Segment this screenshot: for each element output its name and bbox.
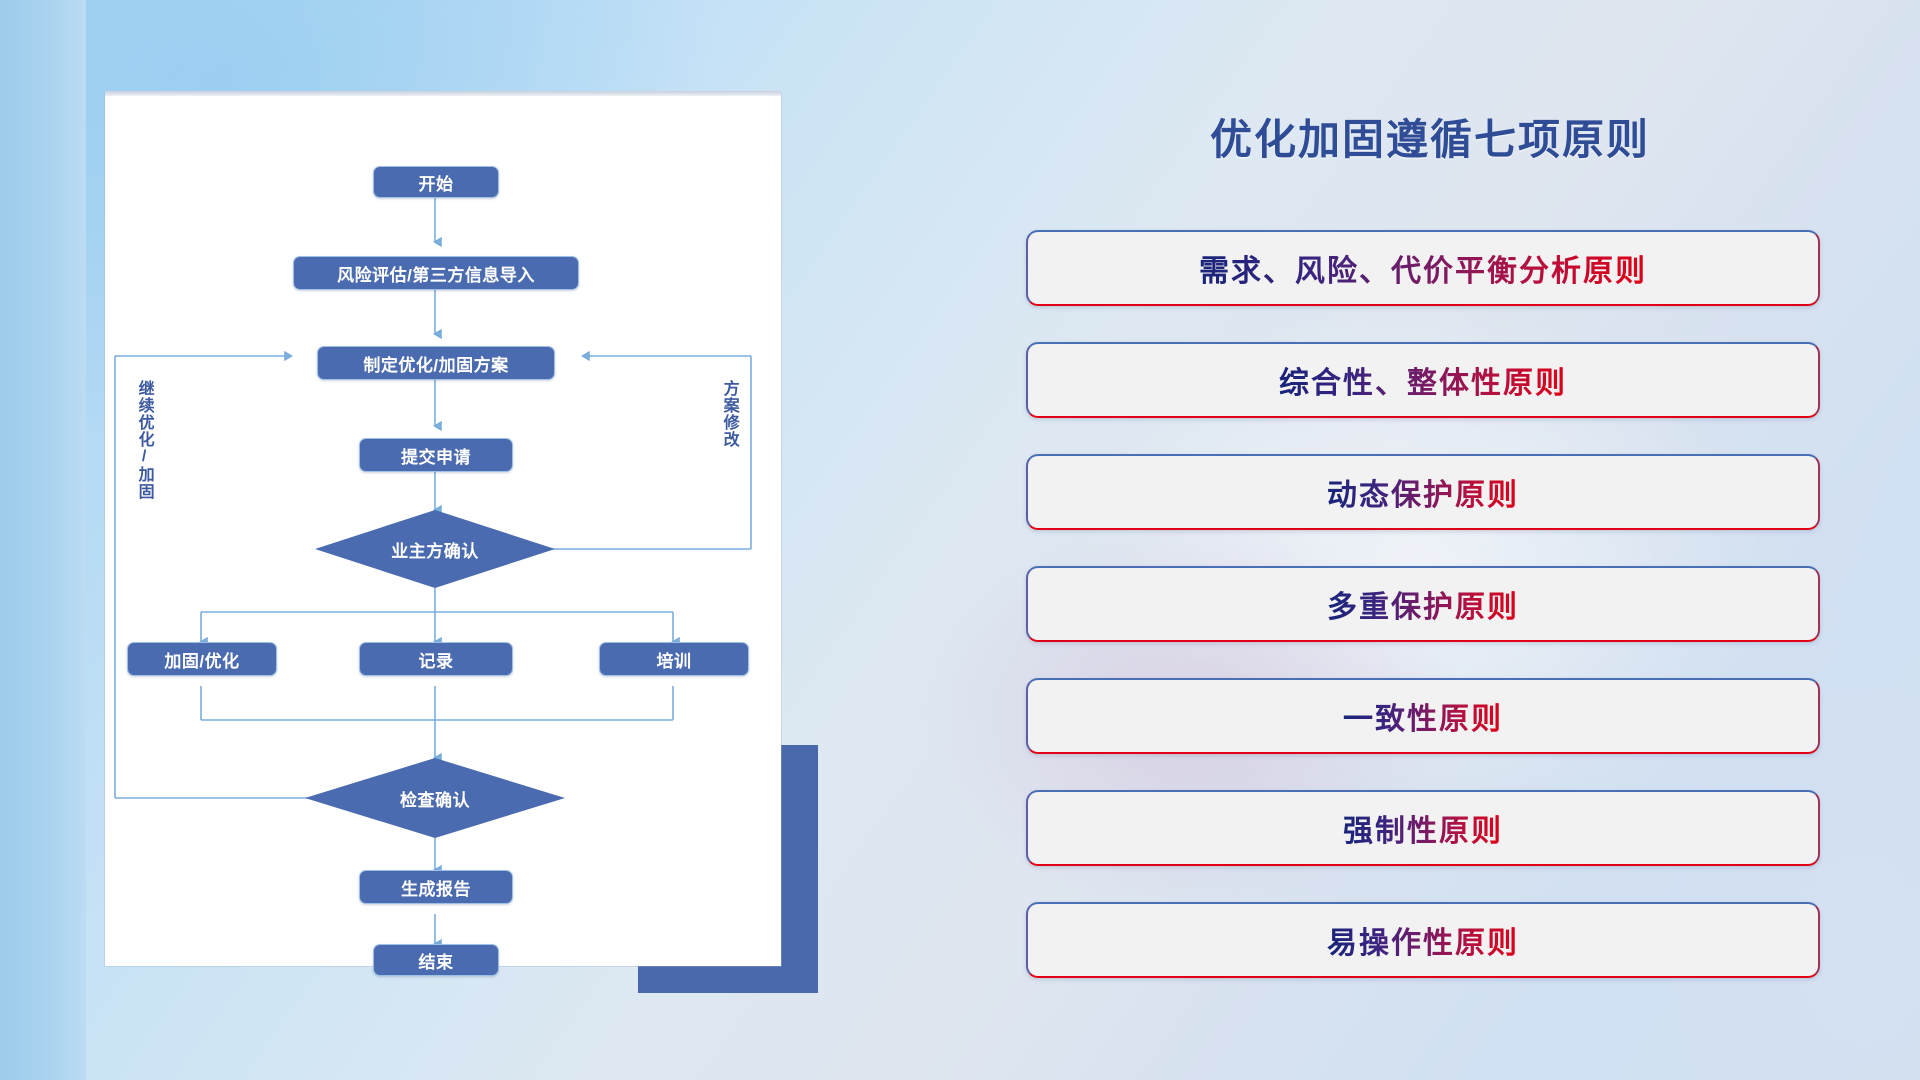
principle-item-2[interactable]: 综合性、整体性原则 [1026,342,1820,418]
principle-item-2-label: 综合性、整体性原则 [1279,358,1567,402]
flow-node-start-label: 开始 [419,170,454,195]
flowchart: 开始 风险评估/第三方信息导入 制定优化/加固方案 提交申请 业主方确认 加固/… [105,94,781,966]
flow-node-risk-assessment[interactable]: 风险评估/第三方信息导入 [293,256,579,290]
flow-node-record-label: 记录 [419,647,454,672]
principles-panel: 优化加固遵循七项原则 需求、风险、代价平衡分析原则 综合性、整体性原则 动态保护… [1020,90,1840,1010]
flow-node-reinforce[interactable]: 加固/优化 [127,642,277,676]
flow-node-inspection-confirm-label: 检查确认 [355,783,515,813]
principle-item-4[interactable]: 多重保护原则 [1026,566,1820,642]
owner-confirm-text: 业主方确认 [391,537,479,562]
flow-node-plan[interactable]: 制定优化/加固方案 [317,346,555,380]
background-left-strip [0,0,86,1080]
flow-node-start[interactable]: 开始 [373,166,499,198]
flow-node-end[interactable]: 结束 [373,944,499,976]
panel-title: 优化加固遵循七项原则 [1020,106,1840,167]
flow-node-submit-application-label: 提交申请 [401,443,471,468]
flow-node-training[interactable]: 培训 [599,642,749,676]
flow-node-training-label: 培训 [657,647,692,672]
flow-node-end-label: 结束 [419,948,454,973]
principle-item-4-label: 多重保护原则 [1327,582,1519,626]
principle-item-3-label: 动态保护原则 [1327,470,1519,514]
flow-node-risk-assessment-label: 风险评估/第三方信息导入 [337,261,535,286]
flow-node-record[interactable]: 记录 [359,642,513,676]
flow-node-submit-application[interactable]: 提交申请 [359,438,513,472]
flowchart-connectors [105,94,781,966]
inspection-confirm-text: 检查确认 [400,786,470,811]
flow-node-reinforce-label: 加固/优化 [164,647,239,672]
principle-item-6[interactable]: 强制性原则 [1026,790,1820,866]
flow-edge-label-plan-revision: 方案修改 [720,380,737,448]
principle-item-6-label: 强制性原则 [1343,806,1503,850]
flow-node-generate-report-label: 生成报告 [401,875,471,900]
principle-item-5[interactable]: 一致性原则 [1026,678,1820,754]
principle-item-7[interactable]: 易操作性原则 [1026,902,1820,978]
principle-item-1[interactable]: 需求、风险、代价平衡分析原则 [1026,230,1820,306]
principle-item-7-label: 易操作性原则 [1327,918,1519,962]
flow-node-generate-report[interactable]: 生成报告 [359,870,513,904]
principle-item-5-label: 一致性原则 [1343,694,1503,738]
flow-node-owner-confirm-label: 业主方确认 [355,534,515,564]
principle-item-3[interactable]: 动态保护原则 [1026,454,1820,530]
principle-item-1-label: 需求、风险、代价平衡分析原则 [1199,246,1647,290]
flow-edge-label-continue-optimize: 继续优化/加固 [135,380,152,500]
flow-node-plan-label: 制定优化/加固方案 [363,351,508,376]
